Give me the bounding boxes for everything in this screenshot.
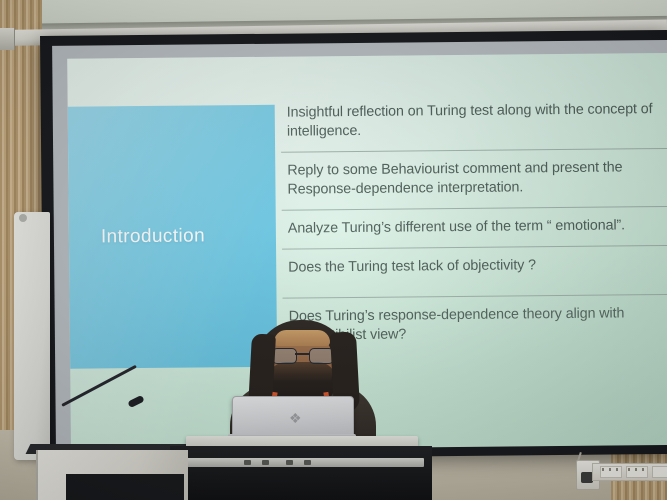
glasses-bridge <box>295 353 309 355</box>
panel-mount-knob <box>19 214 27 222</box>
wall-mounted-white-panel <box>14 212 50 460</box>
podium-control-button[interactable] <box>304 460 311 465</box>
screen-housing-end-cap <box>0 28 15 50</box>
podium-side-recess <box>66 474 184 500</box>
slide-section-title: Introduction <box>69 225 205 248</box>
slide-bullet-item: Does the Turing test lack of objectivity… <box>282 245 667 298</box>
laptop-lid: ❖ <box>232 396 354 438</box>
podium-control-button[interactable] <box>262 460 269 465</box>
presenter-forehead <box>274 330 330 346</box>
podium-control-strip <box>176 458 424 467</box>
podium-control-button[interactable] <box>286 460 293 465</box>
slide-bullet-list: Insightful reflection on Turing test alo… <box>281 91 667 356</box>
glasses-left-lens <box>272 348 297 364</box>
slide-bullet-text: Insightful reflection on Turing test alo… <box>287 100 663 142</box>
socket-contact-dots <box>628 468 644 471</box>
podium-control-button[interactable] <box>244 460 251 465</box>
slide-bullet-text: Reply to some Behaviourist comment and p… <box>287 158 663 200</box>
socket-contact-dots <box>602 468 618 471</box>
slide-bullet-text: Does the Turing test lack of objectivity… <box>288 255 664 278</box>
presenter-glasses <box>272 348 332 362</box>
slide-bullet-item: Reply to some Behaviourist comment and p… <box>281 148 667 210</box>
slide-bullet-item: Insightful reflection on Turing test alo… <box>281 91 667 152</box>
podium-front-panel <box>170 446 432 500</box>
slide-bullet-text: Analyze Turing’s different use of the te… <box>288 216 664 239</box>
wall-socket <box>652 466 667 478</box>
lecture-photo-scene: Introduction Insightful reflection on Tu… <box>0 0 667 500</box>
apple-logo-icon: ❖ <box>289 411 301 425</box>
slide-bullet-item: Analyze Turing’s different use of the te… <box>282 206 667 249</box>
